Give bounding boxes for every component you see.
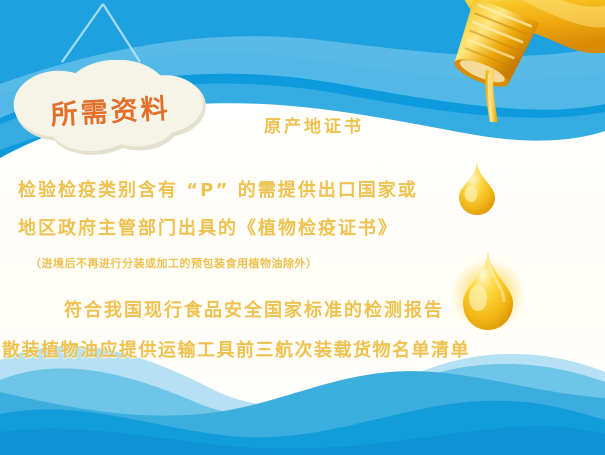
oil-droplet-large-icon [448,243,528,335]
cloud-badge: 所需资料 [8,60,213,158]
oil-droplet-small-icon [455,160,499,216]
origin-certificate-label: 原产地证书 [264,112,364,137]
poster-canvas: 所需资料 原产地证书 检验检疫类别含有 “P” 的需提供出口国家或 地区政府主管… [0,0,605,455]
requirement-line-4: 散装植物油应提供运输工具前三航次装载货物名单清单 [2,336,470,362]
badge-title: 所需资料 [5,54,215,163]
oil-bottle-icon [400,0,605,122]
requirement-note: （进境后不再进行分装或加工的预包装食用植物油除外） [30,255,318,271]
requirement-line-3: 符合我国现行食品安全国家标准的检测报告 [64,296,444,322]
requirement-line-1: 检验检疫类别含有 “P” 的需提供出口国家或 [18,176,418,202]
requirement-line-2: 地区政府主管部门出具的《植物检疫证书》 [18,214,398,240]
